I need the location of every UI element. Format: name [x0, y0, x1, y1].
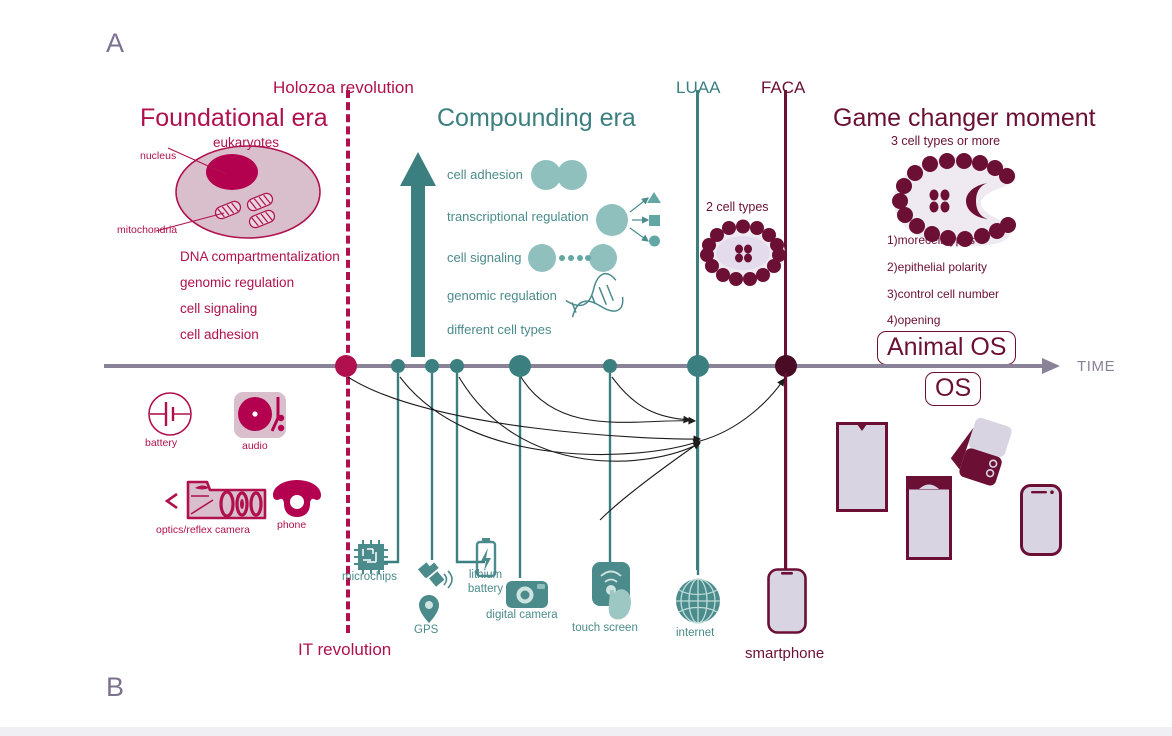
audio-label: audio [242, 440, 268, 452]
smartphone-icon [767, 568, 807, 634]
digital-camera-label: digital camera [486, 609, 558, 622]
optics-reflex-camera-label: optics/reflex camera [156, 524, 250, 536]
phone-icon [272, 478, 322, 520]
dot-holozoa [335, 355, 357, 377]
phone-device-folding [952, 418, 1014, 488]
phone-label: phone [277, 519, 306, 531]
figure-canvas: A B Holozoa revolution LUAA FACA IT revo… [0, 0, 1172, 736]
tech-stems [368, 373, 698, 578]
digital-camera-icon [506, 578, 548, 608]
phone-device-tall [836, 422, 888, 512]
lithium-battery-label-line1: lithium [458, 569, 513, 582]
gps-pin-icon [418, 594, 440, 624]
dot-touch-screen [603, 359, 617, 373]
phone-device-notch [906, 476, 952, 560]
convergence-arcs [348, 377, 784, 520]
battery-icon [146, 392, 194, 436]
smartphone-label: smartphone [745, 645, 824, 662]
touch-screen-label: touch screen [572, 622, 638, 635]
gps-label: GPS [414, 624, 438, 637]
internet-label: internet [676, 627, 714, 640]
dot-gps [425, 359, 439, 373]
internet-globe-icon [675, 578, 721, 624]
microchips-label: microchips [342, 571, 397, 584]
optics-reflex-camera-icon [155, 476, 275, 524]
battery-label: battery [145, 437, 177, 449]
phone-device-rounded [1020, 484, 1062, 556]
dot-microchips [391, 359, 405, 373]
gps-satellite-icon [414, 560, 458, 596]
dot-lithium-battery [450, 359, 464, 373]
touch-screen-icon [588, 562, 640, 624]
lithium-battery-label-line2: battery [458, 583, 513, 596]
audio-icon [232, 390, 288, 440]
